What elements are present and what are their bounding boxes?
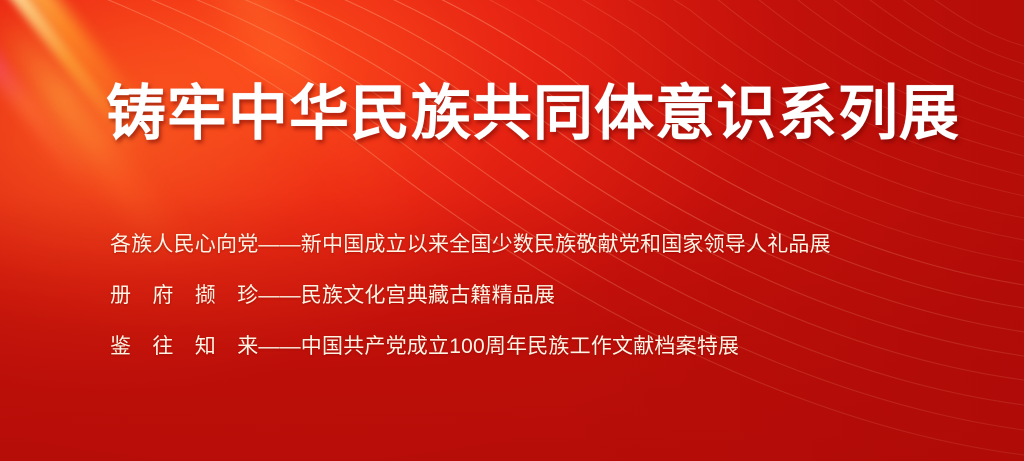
exhibition-item-3: 鉴 往 知 来——中国共产党成立100周年民族工作文献档案特展 [110,321,831,372]
exhibition-item-2: 册 府 撷 珍——民族文化宫典藏古籍精品展 [110,270,831,321]
page-title: 铸牢中华民族共同体意识系列展 [106,80,960,148]
banner-content: 铸牢中华民族共同体意识系列展 各族人民心向党——新中国成立以来全国少数民族敬献党… [0,0,1024,461]
exhibition-item-1: 各族人民心向党——新中国成立以来全国少数民族敬献党和国家领导人礼品展 [110,219,831,270]
exhibition-banner: 铸牢中华民族共同体意识系列展 各族人民心向党——新中国成立以来全国少数民族敬献党… [0,0,1024,461]
exhibition-list: 各族人民心向党——新中国成立以来全国少数民族敬献党和国家领导人礼品展 册 府 撷… [110,219,831,372]
